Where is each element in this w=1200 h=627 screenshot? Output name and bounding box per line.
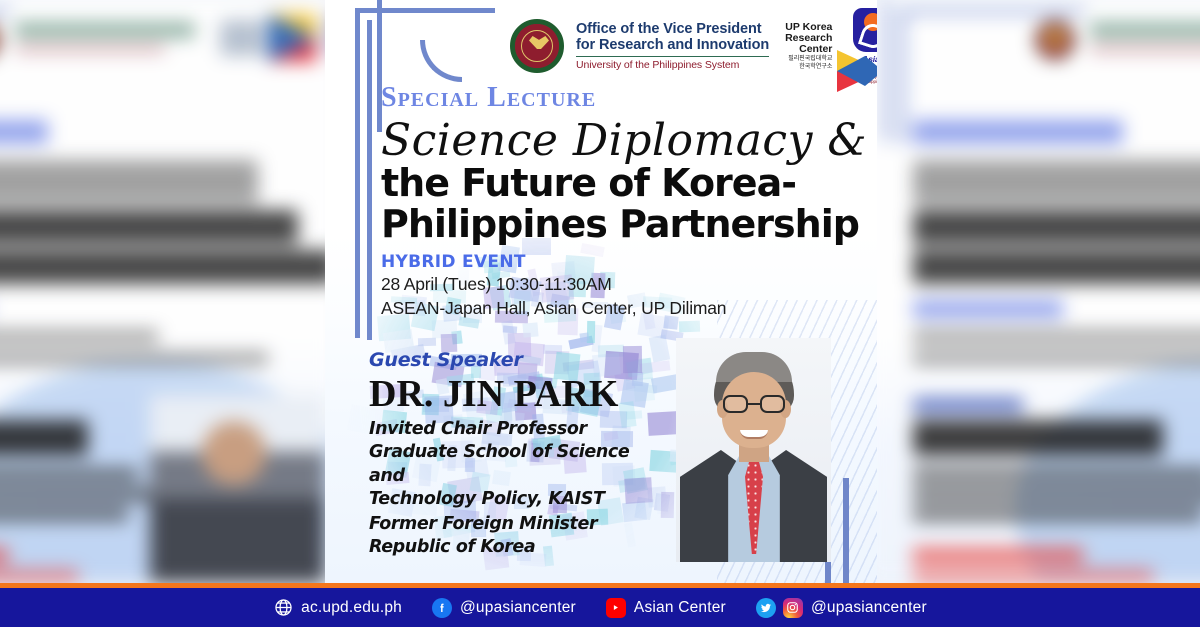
ovpri-line2: for Research and Innovation	[576, 37, 769, 53]
guest-speaker-name: DR. JIN PARK	[369, 372, 618, 416]
social-handle-label: @upasiancenter	[811, 599, 927, 617]
website-label: ac.upd.edu.ph	[301, 599, 402, 617]
event-poster: Office of the Vice President for Researc…	[325, 0, 877, 583]
ovpri-line1: Office of the Vice President	[576, 21, 769, 37]
event-datetime: 28 April (Tues) 10:30-11:30AM	[381, 274, 612, 295]
asian-center-mark-icon	[853, 8, 877, 52]
instagram-icon	[783, 598, 803, 618]
guest-speaker-role: Former Foreign Minister Republic of Kore…	[369, 513, 669, 560]
krc-line2: Research	[785, 33, 832, 44]
facebook-label: @upasiancenter	[460, 599, 576, 617]
guest-speaker-affiliation: Invited Chair Professor Graduate School …	[369, 418, 669, 511]
ovpri-line3: University of the Philippines System	[576, 59, 769, 71]
footer-youtube[interactable]: Asian Center	[606, 598, 726, 618]
facebook-icon	[432, 598, 452, 618]
krc-korean2: 한국학연구소	[785, 64, 832, 71]
role-line-1: Former Foreign Minister	[369, 513, 669, 536]
event-venue: ASEAN-Japan Hall, Asian Center, UP Dilim…	[381, 298, 726, 319]
title-script-line: Science Diplomacy &	[381, 115, 867, 166]
krc-line3: Center	[785, 44, 832, 55]
poster-screenshot: Office of the Vice President for Researc…	[0, 0, 1200, 627]
youtube-icon	[606, 598, 626, 618]
speaker-photo	[676, 338, 831, 562]
blurred-background-right	[865, 0, 1200, 583]
affiliation-line-2: Graduate School of Science and	[369, 441, 669, 488]
role-line-2: Republic of Korea	[369, 536, 669, 559]
affiliation-line-1: Invited Chair Professor	[369, 418, 669, 441]
hybrid-event-badge: HYBRID EVENT	[381, 252, 526, 272]
up-korea-research-center-logo: UP Korea Research Center 필리핀국립대학교 한국학연구소	[785, 22, 835, 71]
youtube-label: Asian Center	[634, 599, 726, 617]
globe-icon	[273, 598, 293, 618]
footer-facebook[interactable]: @upasiancenter	[432, 598, 576, 618]
title-line-2: Philippines Partnership	[381, 204, 859, 245]
twitter-icon	[756, 598, 776, 618]
guest-speaker-label: Guest Speaker	[369, 349, 523, 371]
title-line-1: the Future of Korea-	[381, 163, 859, 204]
up-seal-icon	[510, 19, 564, 73]
kicker-special-lecture: Special Lecture	[381, 82, 596, 114]
footer-social-handle[interactable]: @upasiancenter	[756, 598, 927, 618]
title-bold-block: the Future of Korea- Philippines Partner…	[381, 163, 859, 246]
ovpri-logo: Office of the Vice President for Researc…	[574, 21, 769, 72]
ovpri-divider	[576, 56, 769, 58]
logo-row: Office of the Vice President for Researc…	[510, 8, 877, 84]
footer-website[interactable]: ac.upd.edu.ph	[273, 598, 402, 618]
social-footer-bar: ac.upd.edu.ph @upasiancenter Asian Cente…	[0, 583, 1200, 627]
blurred-background-left	[0, 0, 335, 583]
krc-korean1: 필리핀국립대학교	[785, 56, 832, 63]
krc-line1: UP Korea	[785, 22, 832, 33]
affiliation-line-3: Technology Policy, KAIST	[369, 488, 669, 511]
